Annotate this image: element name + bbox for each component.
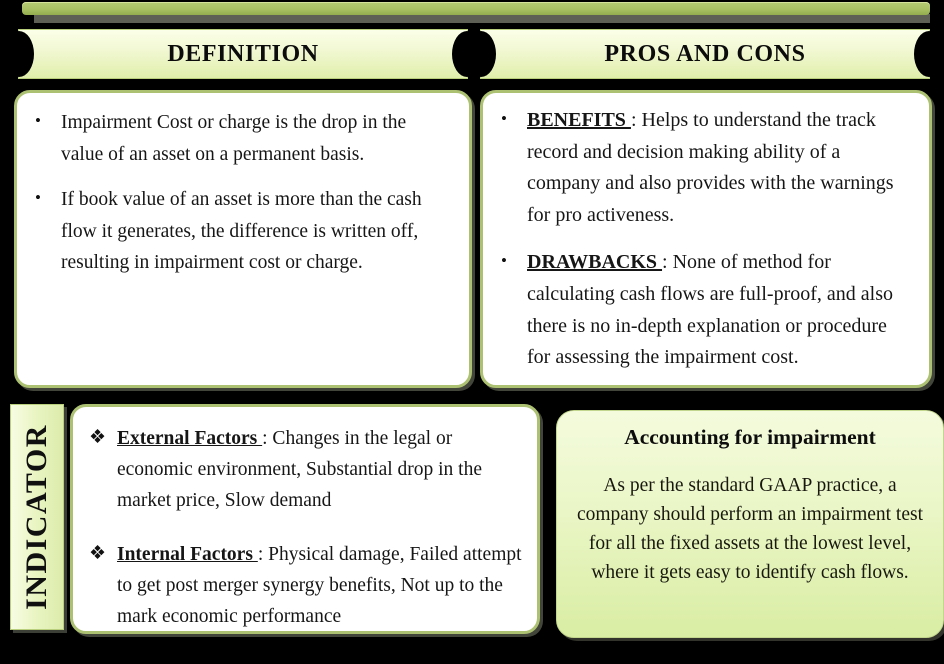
list-item-lead: BENEFITS	[527, 109, 631, 131]
definition-card-inner: • Impairment Cost or charge is the drop …	[17, 93, 469, 289]
header-title-pros-and-cons: PROS AND CONS	[604, 41, 805, 68]
plaque-notch-left-icon	[4, 31, 34, 77]
list-item-text: Impairment Cost or charge is the drop in…	[61, 112, 406, 165]
accounting-card-title: Accounting for impairment	[575, 425, 925, 450]
list-item: ❖ Internal Factors : Physical damage, Fa…	[81, 539, 525, 633]
header-plaque-pros-and-cons: PROS AND CONS	[480, 29, 930, 79]
bullet-diamond-icon: ❖	[89, 539, 106, 570]
indicator-card-inner: ❖ External Factors : Changes in the lega…	[73, 407, 537, 664]
plaque-notch-right-icon	[914, 31, 944, 77]
bullet-diamond-icon: ❖	[89, 423, 106, 454]
list-item-text: If book value of an asset is more than t…	[61, 189, 422, 273]
infographic-canvas: DEFINITION PROS AND CONS • Impairment Co…	[0, 0, 944, 630]
top-bar-shadow	[34, 14, 930, 23]
list-item-lead: DRAWBACKS	[527, 251, 662, 273]
list-item: • Impairment Cost or charge is the drop …	[27, 107, 453, 170]
header-title-definition: DEFINITION	[167, 41, 318, 68]
plaque-body-definition: DEFINITION	[18, 29, 468, 79]
list-item: • DRAWBACKS : None of method for calcula…	[489, 247, 915, 373]
pros-and-cons-content-card: • BENEFITS : Helps to understand the tra…	[480, 90, 932, 388]
header-plaque-definition: DEFINITION	[18, 29, 468, 79]
plaque-notch-left-icon	[466, 31, 496, 77]
bullet-dot-icon: •	[501, 105, 507, 133]
list-item: • BENEFITS : Helps to understand the tra…	[489, 105, 915, 231]
indicator-tab-label: INDICATOR	[20, 424, 54, 610]
list-item-lead: Internal Factors	[117, 544, 258, 565]
bullet-dot-icon: •	[501, 247, 507, 275]
list-item: ❖ External Factors : Changes in the lega…	[81, 423, 525, 517]
indicator-content-card: ❖ External Factors : Changes in the lega…	[70, 404, 540, 634]
bullet-dot-icon: •	[35, 107, 41, 135]
top-accent-bar	[22, 2, 930, 15]
accounting-for-impairment-card: Accounting for impairment As per the sta…	[556, 410, 944, 638]
bullet-dot-icon: •	[35, 184, 41, 212]
pros-and-cons-card-inner: • BENEFITS : Helps to understand the tra…	[483, 93, 929, 398]
indicator-side-tab: INDICATOR	[10, 404, 64, 630]
list-item-lead: External Factors	[117, 428, 262, 449]
list-item: • If book value of an asset is more than…	[27, 184, 453, 279]
accounting-card-body: As per the standard GAAP practice, a com…	[575, 472, 925, 587]
pros-and-cons-bullet-list: • BENEFITS : Helps to understand the tra…	[489, 105, 915, 374]
definition-content-card: • Impairment Cost or charge is the drop …	[14, 90, 472, 388]
definition-bullet-list: • Impairment Cost or charge is the drop …	[27, 107, 453, 279]
plaque-body-pros-and-cons: PROS AND CONS	[480, 29, 930, 79]
indicator-bullet-list: ❖ External Factors : Changes in the lega…	[81, 423, 525, 632]
